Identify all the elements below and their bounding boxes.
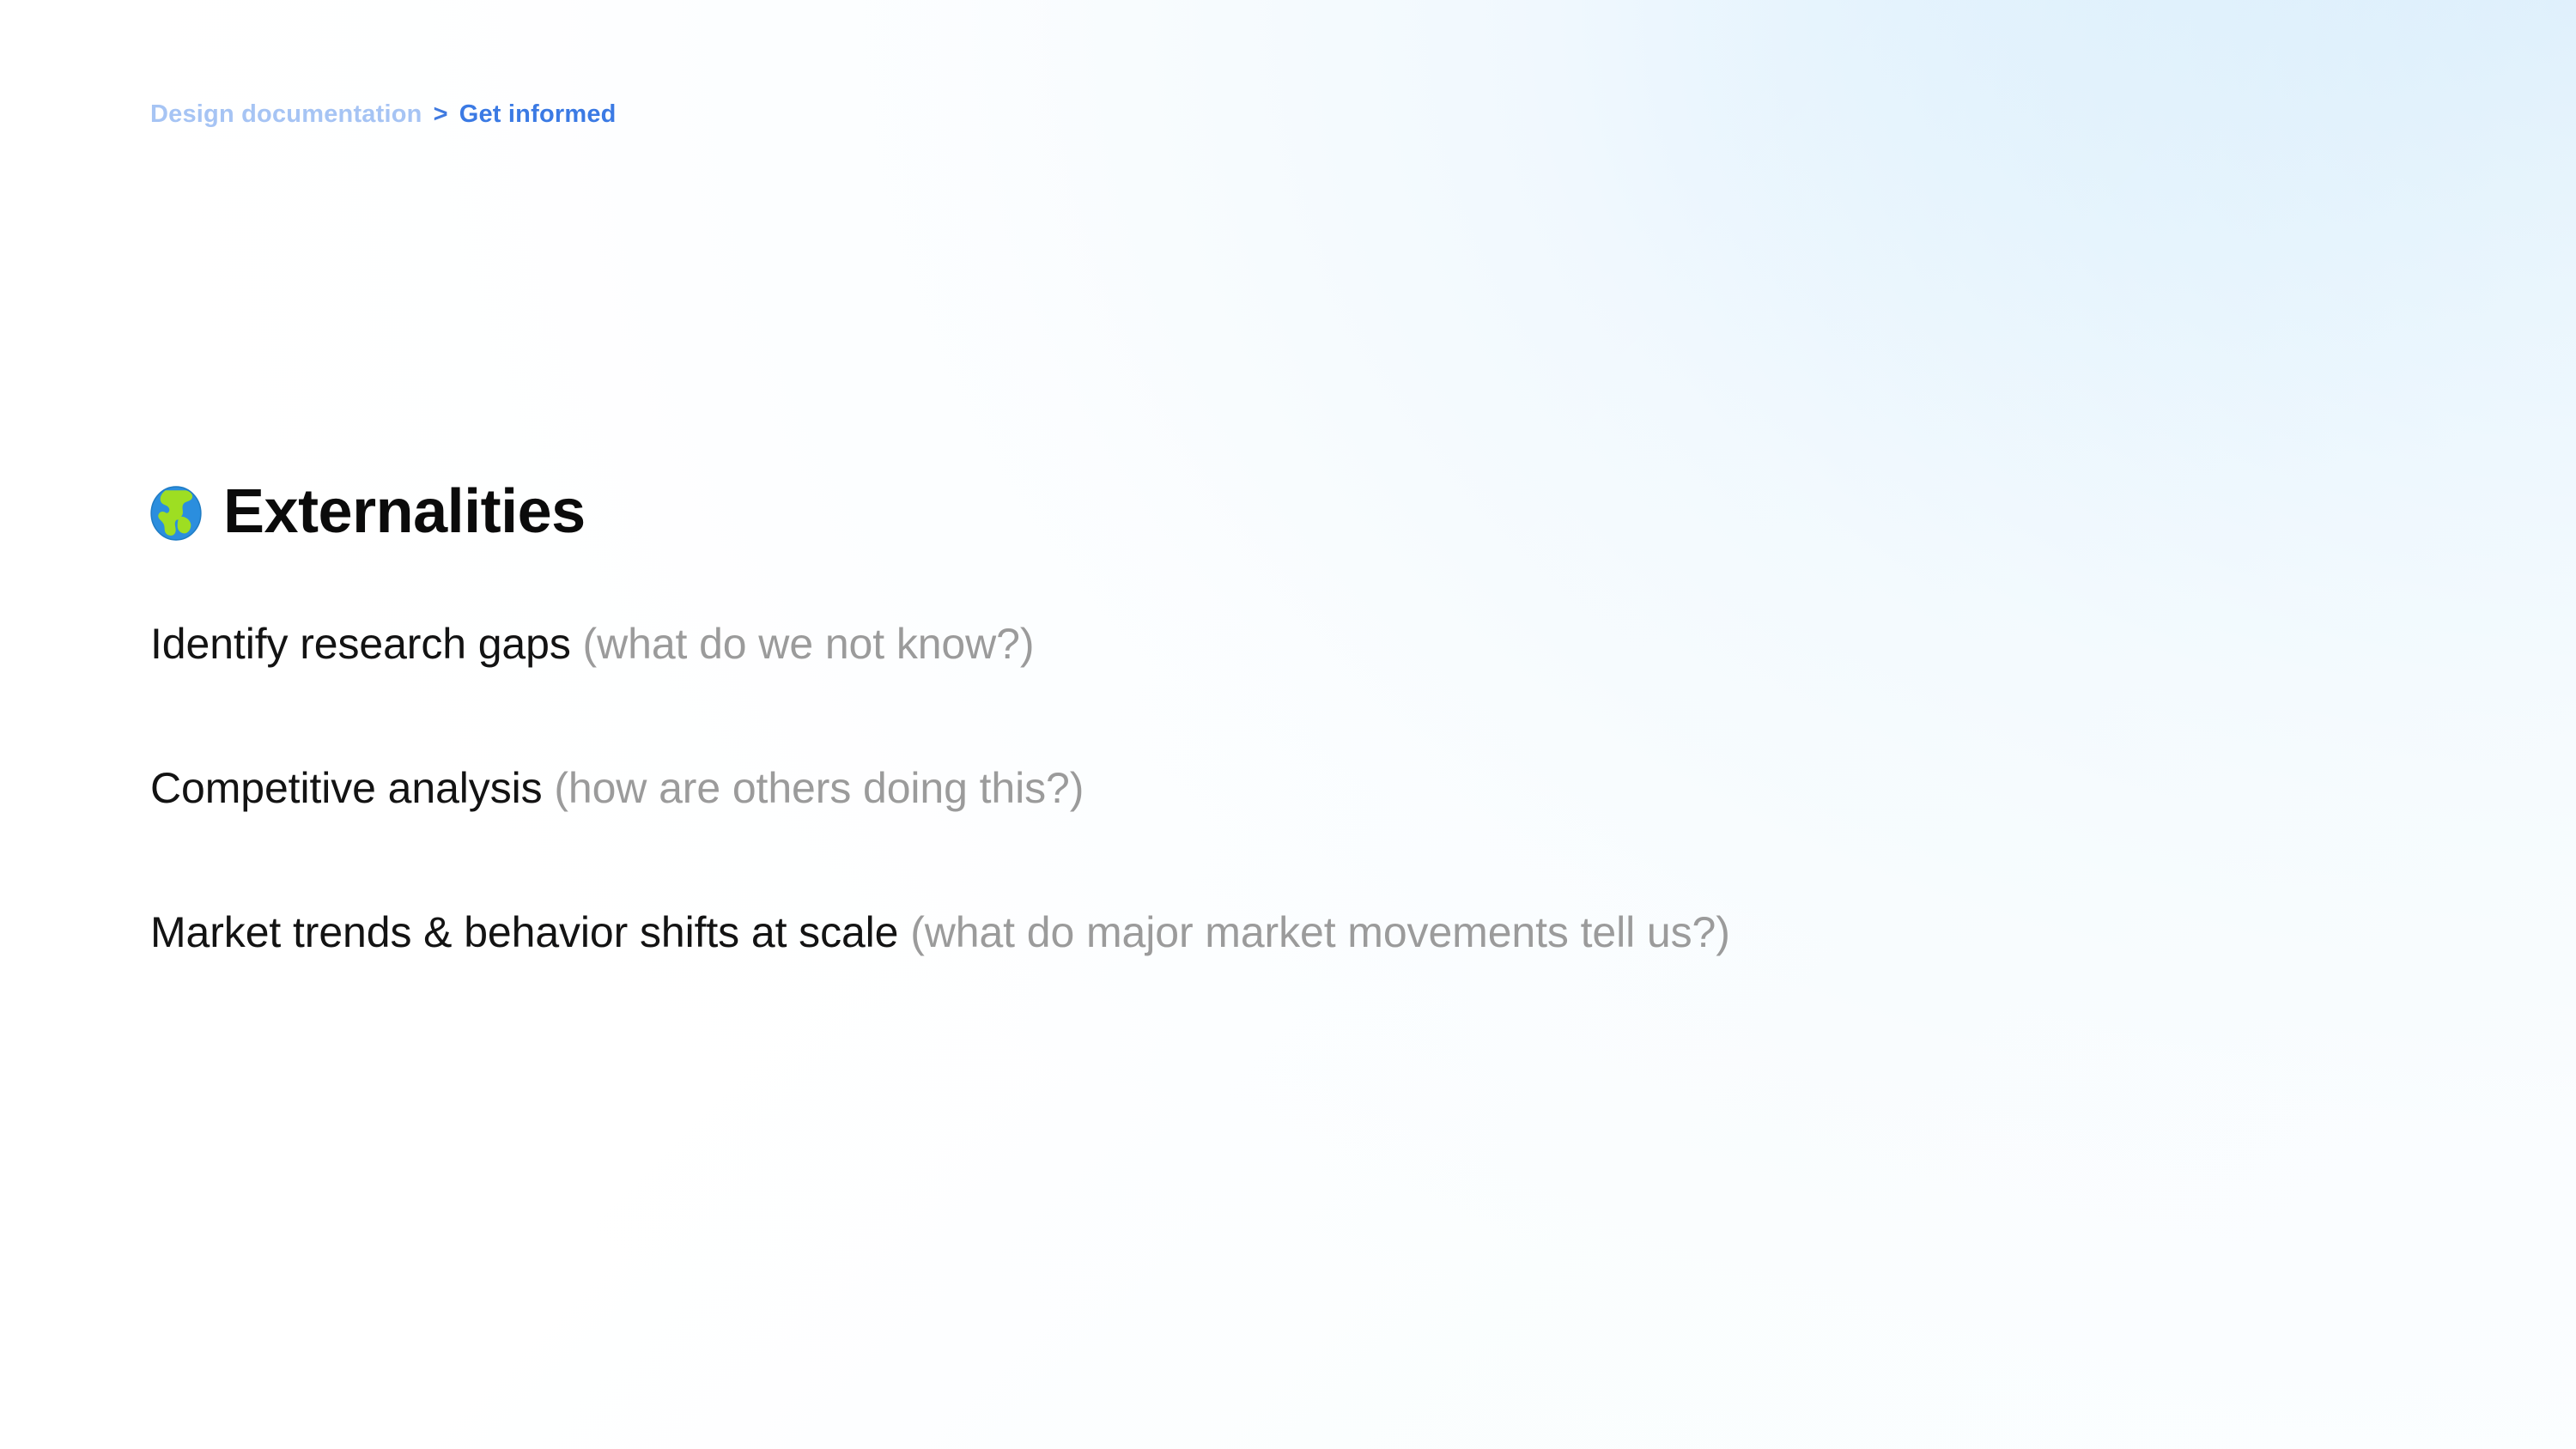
list-item: Identify research gaps (what do we not k…: [150, 618, 2486, 670]
list-item-note: (how are others doing this?): [554, 764, 1084, 812]
page-title-text: Externalities: [223, 481, 586, 543]
breadcrumb-separator-icon: >: [434, 100, 448, 129]
breadcrumb: Design documentation > Get informed: [150, 100, 617, 129]
slide-canvas: Design documentation > Get informed Exte…: [0, 0, 2576, 1449]
page-title: Externalities: [148, 481, 586, 543]
earth-globe-americas-icon: [148, 485, 204, 542]
list-item-label: Market trends & behavior shifts at scale: [150, 908, 898, 956]
list-item: Competitive analysis (how are others doi…: [150, 762, 2486, 814]
list-item-note: (what do we not know?): [583, 620, 1035, 668]
list-item-note: (what do major market movements tell us?…: [910, 908, 1730, 956]
list-item: Market trends & behavior shifts at scale…: [150, 906, 2486, 958]
list-item-label: Identify research gaps: [150, 620, 571, 668]
content-list: Identify research gaps (what do we not k…: [150, 618, 2486, 958]
breadcrumb-item-get-informed[interactable]: Get informed: [459, 100, 617, 129]
list-item-label: Competitive analysis: [150, 764, 543, 812]
breadcrumb-item-design-documentation[interactable]: Design documentation: [150, 100, 422, 129]
